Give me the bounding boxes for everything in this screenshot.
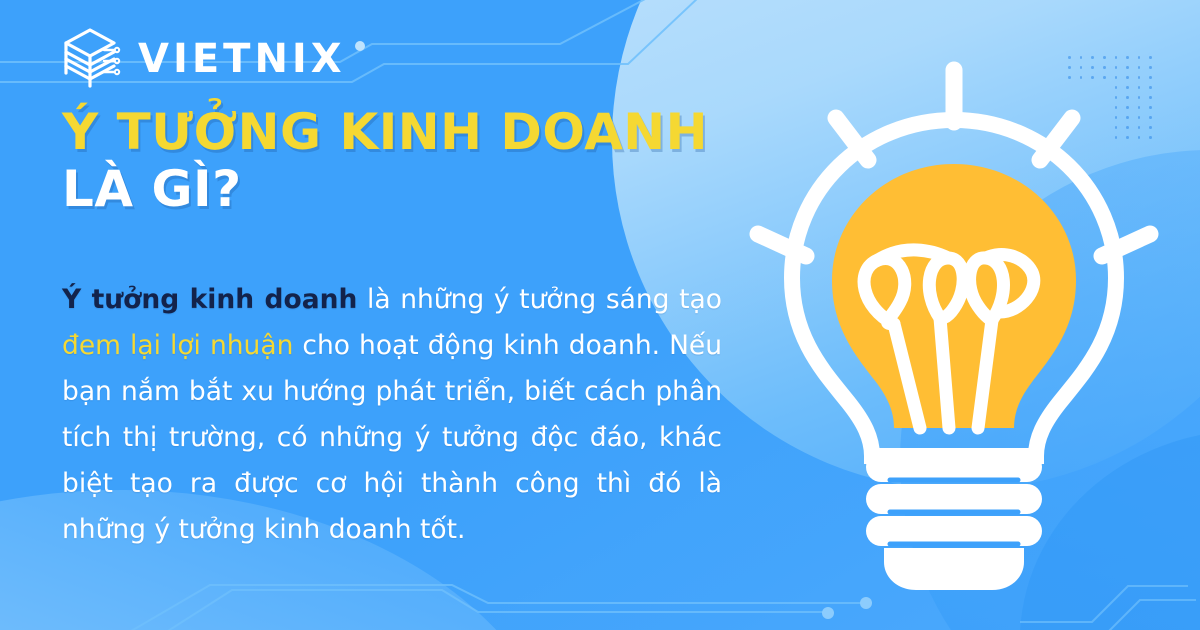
- page-title: Ý TƯỞNG KINH DOANH LÀ GÌ?: [62, 104, 742, 218]
- promo-banner: VIETNIX Ý TƯỞNG KINH DOANH LÀ GÌ? Ý tưởn…: [0, 0, 1200, 630]
- bulb-screw-base: [866, 452, 1042, 590]
- paragraph-bold-lead: Ý tưởng kinh doanh: [62, 284, 357, 315]
- lightbulb-idea-icon: [744, 56, 1164, 596]
- description-paragraph: Ý tưởng kinh doanh là những ý tưởng sáng…: [62, 277, 722, 553]
- brand-name: VIETNIX: [138, 39, 346, 79]
- paragraph-highlight: đem lại lợi nhuận: [62, 330, 293, 361]
- brand-logo[interactable]: VIETNIX: [60, 26, 346, 92]
- circuit-node-top: [355, 41, 365, 51]
- circuit-node-bottom-2: [822, 607, 834, 619]
- headline-line-1: Ý TƯỞNG KINH DOANH: [62, 104, 742, 161]
- paragraph-text-2: cho hoạt động kinh doanh. Nếu bạn nắm bắ…: [62, 330, 722, 545]
- stacked-layers-server-icon: [60, 26, 124, 92]
- paragraph-text-1: là những ý tưởng sáng tạo: [357, 284, 722, 315]
- circuit-node-bottom-1: [860, 597, 872, 609]
- headline-line-2: LÀ GÌ?: [62, 161, 742, 218]
